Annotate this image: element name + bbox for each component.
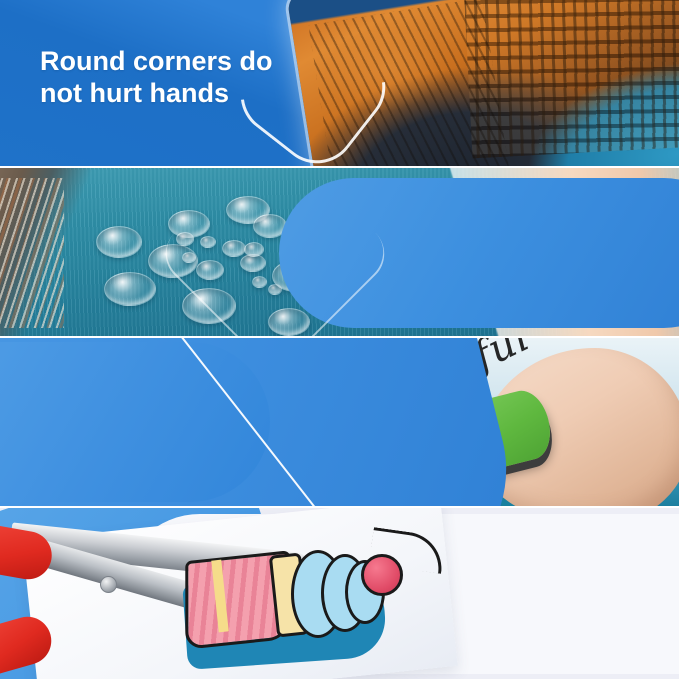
blue-pill-shape-right (279, 178, 679, 328)
water-droplet (96, 226, 142, 258)
panel-1-caption: Round corners do not hurt hands (40, 46, 273, 110)
feature-panel-anti-water-dust: Anti-Water & Anti-Dust (0, 168, 679, 336)
coastline-detail (0, 168, 110, 336)
scissor-pivot-screw (100, 576, 117, 593)
scissor-handle-lower (0, 611, 57, 679)
feature-panel-round-corners: Round corners do not hurt hands (0, 0, 679, 166)
blue-pill-shape-left (0, 342, 270, 502)
product-feature-infographic: Round corners do not hurt hands Anti-Wat… (0, 0, 679, 679)
feature-panel-dry-erase: Beautiful Dry erase (0, 338, 679, 506)
cupcake-sticker (175, 548, 405, 668)
feature-panel-trim-if-need: Trim if need (0, 508, 679, 679)
water-droplet (104, 272, 156, 306)
